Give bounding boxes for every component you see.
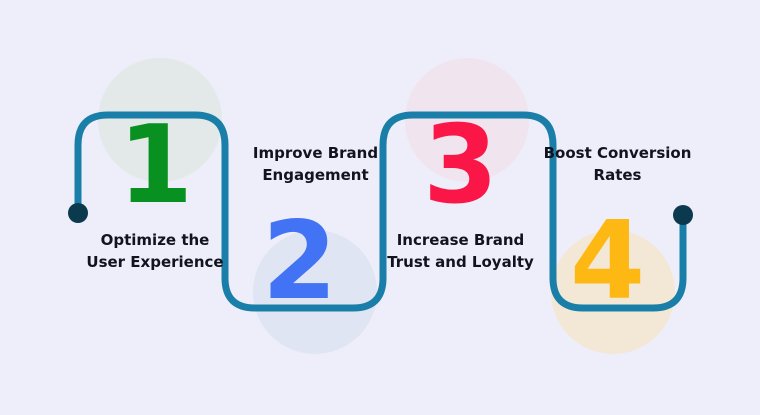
- label-layer: Optimize the User Experience Improve Bra…: [0, 0, 760, 415]
- step-label-2: Improve Brand Engagement: [238, 143, 393, 187]
- step-label-1: Optimize the User Experience: [80, 230, 230, 274]
- step-label-3: Increase Brand Trust and Loyalty: [383, 230, 538, 274]
- infographic-canvas: 1 2 3 4 Optimize the User Experience Imp…: [0, 0, 760, 415]
- step-label-4: Boost Conversion Rates: [535, 143, 700, 187]
